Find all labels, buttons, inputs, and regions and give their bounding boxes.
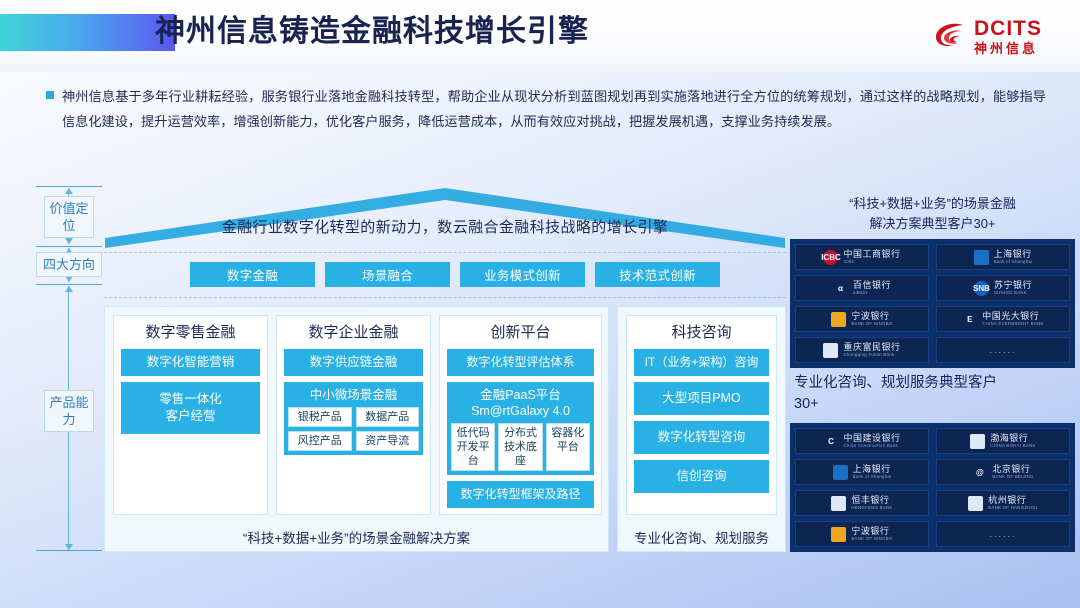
bank-logo-names: 中国光大银行CHINA EVERBRIGHT BANK (982, 312, 1043, 327)
column-tech-consulting: 科技咨询 IT（业务+架构）咨询 大型项目PMO 数字化转型咨询 信创咨询 (626, 315, 777, 515)
bank-name-cn: 中国建设银行 (843, 434, 900, 443)
customer-logo-bottom-2[interactable]: 渤海银行CHINA BOHAI BANK (936, 428, 1070, 454)
column-title: 科技咨询 (634, 322, 769, 343)
bank-name-cn: 恒丰银行 (851, 496, 889, 505)
logo-text-cn: 神州信息 (974, 42, 1042, 55)
customers-heading-mid: 专业化咨询、规划服务典型客户 30+ (790, 368, 1075, 418)
intro-text: 神州信息基于多年行业耕耘经验，服务银行业落地金融科技转型，帮助企业从现状分析到蓝… (62, 84, 1046, 134)
more-dots: ...... (989, 529, 1016, 539)
dcits-logo-mark (933, 19, 967, 53)
customer-logo-bottom-8[interactable]: ...... (936, 521, 1070, 547)
axis-label-four-directions: 四大方向 (36, 252, 102, 277)
bank-logo-mark-icon: E (962, 312, 977, 327)
chip-risk-control-product[interactable]: 风控产品 (288, 431, 352, 451)
item-it-consulting[interactable]: IT（业务+架构）咨询 (634, 349, 769, 376)
customer-logo-top-7[interactable]: 重庆富民银行Chongqing Fumin Bank (795, 337, 929, 363)
bank-name-en: China Construction Bank (843, 444, 897, 448)
bank-logo-names: 中国建设银行China Construction Bank (843, 434, 900, 449)
chip-data-product[interactable]: 数据产品 (356, 407, 420, 427)
column-title: 数字零售金融 (121, 322, 260, 343)
customer-logo-bottom-3[interactable]: 上海银行Bank of Shanghai (795, 459, 929, 485)
bank-name-en: SUNING BANK (994, 291, 1027, 295)
bank-logo-mark-icon (831, 312, 846, 327)
axis-label-product-capability: 产品能力 (44, 390, 94, 432)
bank-logo-names: 宁波银行BANK OF NINGBO (851, 312, 892, 327)
bank-logo-names: 百信银行aiBank (853, 281, 891, 296)
customer-logo-top-1[interactable]: ICBC中国工商银行ICBC (795, 244, 929, 270)
bank-name-cn: 北京银行 (992, 465, 1030, 474)
group-title: 中小微场景金融 (284, 382, 423, 407)
logo-wordmark: DCITS 神州信息 (974, 18, 1042, 55)
customer-logo-bottom-6[interactable]: 杭州银行BANK OF HANGZHOU (936, 490, 1070, 516)
direction-chip-1[interactable]: 数字金融 (190, 262, 315, 287)
item-digital-supply-chain-finance[interactable]: 数字供应链金融 (284, 349, 423, 376)
bank-name-cn: 杭州银行 (988, 496, 1026, 505)
chip-asset-routing[interactable]: 资产导流 (356, 431, 420, 451)
bank-name-cn: 渤海银行 (990, 434, 1028, 443)
bank-name-en: BANK OF NINGBO (851, 537, 892, 541)
customer-logo-top-6[interactable]: E中国光大银行CHINA EVERBRIGHT BANK (936, 306, 1070, 332)
direction-chip-3[interactable]: 业务模式创新 (460, 262, 585, 287)
bank-name-cn: 百信银行 (853, 281, 891, 290)
bank-name-en: Bank of Shanghai (994, 260, 1033, 264)
divider-bottom (104, 297, 786, 298)
product-capability-row: 数字零售金融 数字化智能营销 零售一体化 客户经营 数字企业金融 数字供应链金融… (104, 306, 786, 552)
bank-name-cn: 上海银行 (853, 465, 891, 474)
bank-name-en: aiBank (853, 291, 868, 295)
customer-logo-top-5[interactable]: 宁波银行BANK OF NINGBO (795, 306, 929, 332)
page-title: 神州信息铸造金融科技增长引擎 (155, 10, 589, 54)
bank-logo-names: 上海银行Bank of Shanghai (994, 250, 1033, 265)
item-digital-transformation-assessment[interactable]: 数字化转型评估体系 (447, 349, 594, 376)
bank-name-en: ICBC (843, 260, 854, 264)
column-innovation-platform: 创新平台 数字化转型评估体系 金融PaaS平台 Sm@rtGalaxy 4.0 … (439, 315, 602, 515)
page-header: 神州信息铸造金融科技增长引擎 DCITS 神州信息 (0, 0, 1080, 72)
bank-logo-mark-icon: ICBC (823, 250, 838, 265)
customers-heading-top: “科技+数据+业务”的场景金融 解决方案典型客户30+ (790, 186, 1075, 234)
center-framework: 金融行业数字化转型的新动力，数云融合金融科技战略的增长引擎 数字金融 场景融合 … (104, 186, 786, 552)
bank-logo-mark-icon: α (833, 281, 848, 296)
group-sme-scenario-finance[interactable]: 中小微场景金融 银税产品 数据产品 风控产品 资产导流 (284, 382, 423, 455)
dcits-logo: DCITS 神州信息 (933, 14, 1042, 58)
bullet-icon (46, 91, 54, 99)
bank-name-cn: 苏宁银行 (994, 281, 1032, 290)
chip-grid: 低代码开发平台 分布式技术底座 容器化平台 (447, 423, 594, 475)
item-digital-transformation-consulting[interactable]: 数字化转型咨询 (634, 421, 769, 454)
divider-top (104, 252, 786, 253)
customer-logo-bottom-4[interactable]: @北京银行BANK OF BEIJING (936, 459, 1070, 485)
bank-name-cn: 中国光大银行 (982, 312, 1039, 321)
group-title: 金融PaaS平台 Sm@rtGalaxy 4.0 (447, 382, 594, 423)
vision-text: 金融行业数字化转型的新动力，数云融合金融科技战略的增长引擎 (104, 216, 786, 237)
item-xinchuang-consulting[interactable]: 信创咨询 (634, 460, 769, 493)
item-large-project-pmo[interactable]: 大型项目PMO (634, 382, 769, 415)
bank-logo-mark-icon: SNB (974, 281, 989, 296)
bank-logo-names: 重庆富民银行Chongqing Fumin Bank (843, 343, 900, 358)
bank-name-en: HENGFENG BANK (851, 506, 892, 510)
customer-logo-top-8[interactable]: ...... (936, 337, 1070, 363)
bank-logo-names: 渤海银行CHINA BOHAI BANK (990, 434, 1035, 449)
item-digital-smart-marketing[interactable]: 数字化智能营销 (121, 349, 260, 376)
bank-logo-names: 北京银行BANK OF BEIJING (992, 465, 1033, 480)
more-dots: ...... (989, 345, 1016, 355)
column-digital-enterprise-finance: 数字企业金融 数字供应链金融 中小微场景金融 银税产品 数据产品 风控产品 资产… (276, 315, 431, 515)
bank-logo-mark-icon (831, 496, 846, 511)
customer-logos-panel: “科技+数据+业务”的场景金融 解决方案典型客户30+ ICBC中国工商银行IC… (790, 186, 1075, 552)
bank-name-en: Bank of Shanghai (853, 475, 892, 479)
bank-name-en: BANK OF HANGZHOU (988, 506, 1037, 510)
consulting-group: 科技咨询 IT（业务+架构）咨询 大型项目PMO 数字化转型咨询 信创咨询 专业… (617, 306, 786, 552)
bank-logo-mark-icon (970, 434, 985, 449)
bank-name-en: BANK OF NINGBO (851, 322, 892, 326)
bank-logo-names: 恒丰银行HENGFENG BANK (851, 496, 892, 511)
bank-logo-names: 苏宁银行SUNING BANK (994, 281, 1032, 296)
bank-logo-mark-icon: @ (972, 465, 987, 480)
four-directions-row: 数字金融 场景融合 业务模式创新 技术范式创新 (190, 262, 720, 287)
chip-containerization-platform[interactable]: 容器化平台 (546, 423, 590, 471)
item-transformation-framework-path[interactable]: 数字化转型框架及路径 (447, 481, 594, 508)
customer-logo-bottom-5[interactable]: 恒丰银行HENGFENG BANK (795, 490, 929, 516)
solution-group: 数字零售金融 数字化智能营销 零售一体化 客户经营 数字企业金融 数字供应链金融… (104, 306, 609, 552)
column-title: 创新平台 (447, 322, 594, 343)
customer-logo-top-3[interactable]: α百信银行aiBank (795, 275, 929, 301)
bank-logo-names: 中国工商银行ICBC (843, 250, 900, 265)
bank-logo-mark-icon (974, 250, 989, 265)
bank-name-cn: 重庆富民银行 (843, 343, 900, 352)
customer-logo-bottom-1[interactable]: C中国建设银行China Construction Bank (795, 428, 929, 454)
customer-logo-bottom-7[interactable]: 宁波银行BANK OF NINGBO (795, 521, 929, 547)
logo-text-en: DCITS (974, 18, 1042, 39)
intro-paragraph: 神州信息基于多年行业耕耘经验，服务银行业落地金融科技转型，帮助企业从现状分析到蓝… (46, 84, 1046, 134)
bank-logo-mark-icon: C (823, 434, 838, 449)
customer-logo-top-4[interactable]: SNB苏宁银行SUNING BANK (936, 275, 1070, 301)
chip-grid: 银税产品 数据产品 风控产品 资产导流 (284, 407, 423, 455)
title-accent-bar (0, 14, 175, 51)
bank-logo-mark-icon (968, 496, 983, 511)
chip-lowcode-dev-platform[interactable]: 低代码开发平台 (451, 423, 495, 471)
stage-axis: 价值定位 四大方向 产品能力 (32, 186, 106, 552)
bank-logo-mark-icon (833, 465, 848, 480)
consulting-group-caption: 专业化咨询、规划服务 (618, 527, 785, 547)
bank-name-en: BANK OF BEIJING (992, 475, 1033, 479)
bank-logo-names: 上海银行Bank of Shanghai (853, 465, 892, 480)
bank-name-cn: 中国工商银行 (843, 250, 900, 259)
customer-logo-grid-bottom: C中国建设银行China Construction Bank渤海银行CHINA … (790, 423, 1075, 552)
bank-logo-names: 杭州银行BANK OF HANGZHOU (988, 496, 1037, 511)
chip-bank-tax-product[interactable]: 银税产品 (288, 407, 352, 427)
bank-name-en: CHINA EVERBRIGHT BANK (982, 322, 1043, 326)
bank-logo-names: 宁波银行BANK OF NINGBO (851, 527, 892, 542)
bank-logo-mark-icon (831, 527, 846, 542)
bank-name-cn: 宁波银行 (851, 312, 889, 321)
customer-logo-grid-top: ICBC中国工商银行ICBC上海银行Bank of Shanghaiα百信银行a… (790, 239, 1075, 368)
column-title: 数字企业金融 (284, 322, 423, 343)
item-retail-integrated-customer-ops[interactable]: 零售一体化 客户经营 (121, 382, 260, 434)
solution-group-caption: “科技+数据+业务”的场景金融解决方案 (105, 527, 608, 547)
bank-name-en: CHINA BOHAI BANK (990, 444, 1035, 448)
direction-chip-2[interactable]: 场景融合 (325, 262, 450, 287)
group-financial-paas-platform[interactable]: 金融PaaS平台 Sm@rtGalaxy 4.0 低代码开发平台 分布式技术底座… (447, 382, 594, 475)
chip-distributed-tech-base[interactable]: 分布式技术底座 (498, 423, 542, 471)
direction-chip-4[interactable]: 技术范式创新 (595, 262, 720, 287)
bank-name-en: Chongqing Fumin Bank (843, 353, 894, 357)
axis-label-value-position: 价值定位 (44, 196, 94, 238)
bank-name-cn: 上海银行 (994, 250, 1032, 259)
bank-name-cn: 宁波银行 (851, 527, 889, 536)
column-digital-retail-finance: 数字零售金融 数字化智能营销 零售一体化 客户经营 (113, 315, 268, 515)
customer-logo-top-2[interactable]: 上海银行Bank of Shanghai (936, 244, 1070, 270)
bank-logo-mark-icon (823, 343, 838, 358)
